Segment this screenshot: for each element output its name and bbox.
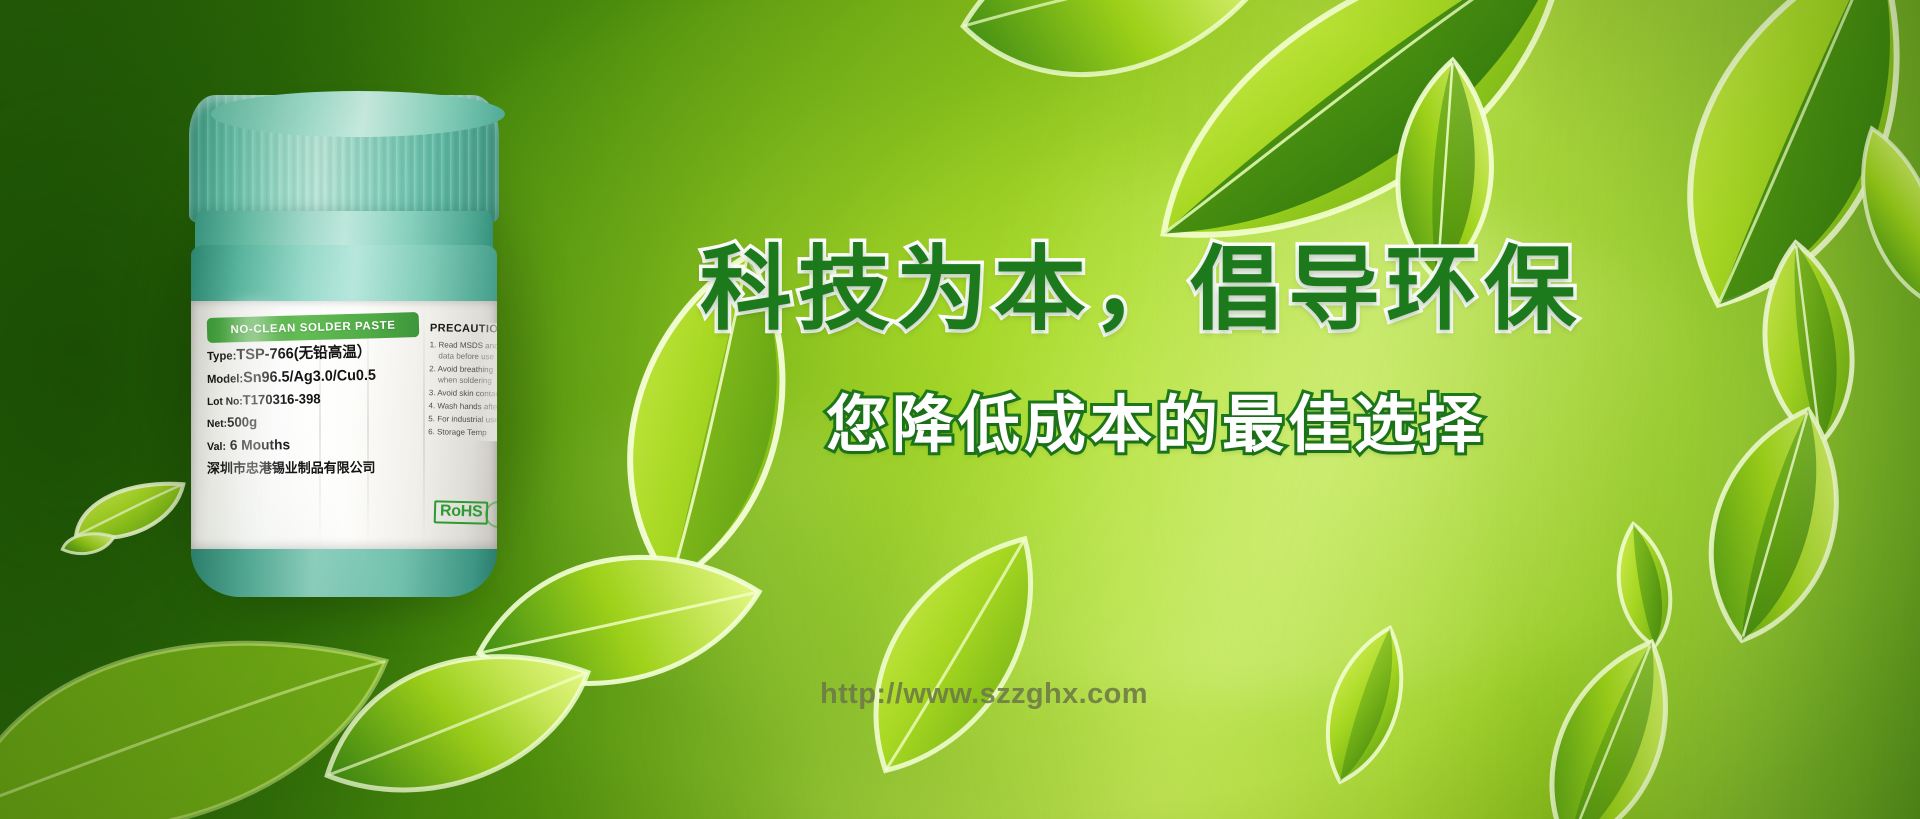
leaf-top-center xyxy=(922,0,1298,187)
jar-lid-top xyxy=(211,91,505,137)
label-gloss-highlight xyxy=(221,301,283,549)
headline-text: 科技为本，倡导环保 xyxy=(700,244,1582,336)
leaf-mid-right-small xyxy=(1294,609,1437,800)
website-url[interactable]: http://www.szzghx.com xyxy=(820,678,1148,711)
background-swoosh-right-edge xyxy=(1520,0,1920,819)
product-label: NO-CLEAN SOLDER PASTE Type:TSP-766(无铅高温）… xyxy=(191,301,497,549)
leaf-bottom-center xyxy=(813,527,1098,794)
subheadline-text: 您降低成本的最佳选择 xyxy=(826,395,1486,457)
jar-base xyxy=(191,549,497,597)
rohs-badge-icon: RoHS xyxy=(434,500,489,524)
product-jar: NO-CLEAN SOLDER PASTE Type:TSP-766(无铅高温）… xyxy=(175,95,520,605)
leaf-top-right-large xyxy=(1591,0,1920,347)
promo-banner: NO-CLEAN SOLDER PASTE Type:TSP-766(无铅高温）… xyxy=(0,0,1920,819)
leaf-right-mid xyxy=(1736,231,1881,454)
leaf-far-right-accent xyxy=(1828,111,1920,320)
leaf-right-bottom xyxy=(1502,612,1718,819)
jar-body: NO-CLEAN SOLDER PASTE Type:TSP-766(无铅高温）… xyxy=(191,245,497,597)
precaution-block: PRECAUTION 1. Read MSDS and data before … xyxy=(428,322,497,442)
jar-lid xyxy=(189,95,499,223)
leaf-right-lower xyxy=(1659,381,1891,668)
leaf-right-small xyxy=(1597,515,1690,656)
